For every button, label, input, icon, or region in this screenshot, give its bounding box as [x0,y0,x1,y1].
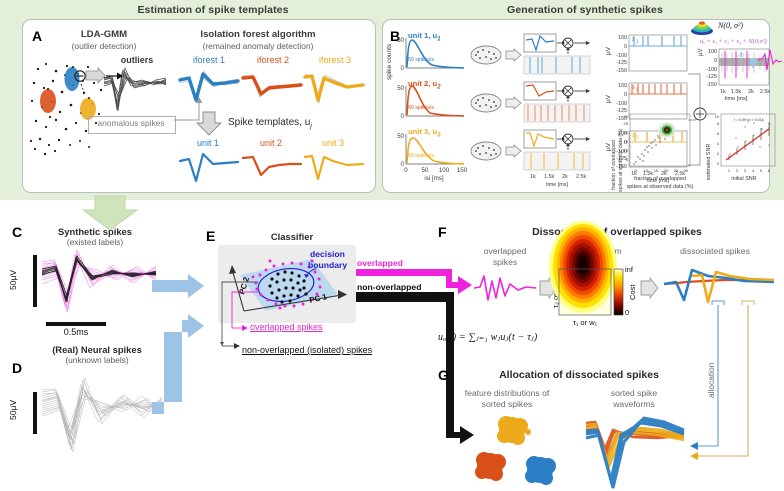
svg-text:20: 20 [624,130,629,135]
svg-text:1k: 1k [720,89,726,95]
sorted-waveforms-caption-2: waveforms [586,399,682,409]
svg-text:-125: -125 [616,60,627,66]
iforest-2-label: iforest 2 [244,55,302,65]
svg-text:6: 6 [717,131,720,136]
svg-text:100: 100 [618,83,627,89]
unit1-isi-text: unit 1, u [408,31,437,40]
svg-text:3: 3 [744,168,747,173]
svg-text:-100: -100 [616,101,627,107]
spike-generator-blob-3 [470,140,504,162]
unit1-isi-label: unit 1, u1 [408,31,441,43]
panel-d-letter: D [12,360,22,376]
svg-text:1k: 1k [530,174,536,180]
iforest-title: Isolation forest algorithm [158,29,358,40]
dissociation-equation: uₒ(t) = ∑ⱼ₌₁ wⱼuⱼ(t − τⱼ) [438,332,537,343]
svg-text:60 spikes/s: 60 spikes/s [408,153,434,159]
output-overlapped-spikes: overlapped spikes [250,322,323,332]
spike-templates-text: Spike templates, u [228,117,310,128]
svg-text:5: 5 [635,168,638,173]
pso-colorbar-min-label: 0 [625,308,629,317]
panel-c-title: Synthetic spikes [30,226,160,237]
panel-c-yscale-label: 50μV [8,270,18,290]
svg-text:0: 0 [401,65,405,72]
gaussian-noise-icon [690,18,714,36]
svg-text:0: 0 [717,161,720,166]
overlapped-flow-arrow [356,268,472,292]
svg-text:2: 2 [736,168,739,173]
panel-c-synthetic-spikes [42,248,156,318]
outliers-waveforms [104,66,166,114]
iforest-1-label: iforest 1 [180,55,238,65]
svg-text:150: 150 [457,167,468,174]
overlap-fraction-scatter: 510 1520 2530 510 1520 2530 [622,112,694,178]
svg-text:4: 4 [717,141,720,146]
banner-title-left: Estimation of spike templates [58,4,368,16]
feature-clusters-plot [470,414,574,486]
unit-2-label: unit 2 [245,138,297,148]
svg-text:0: 0 [624,92,627,98]
scatter1-xlabel-line1: fraction of overlapped [620,176,700,182]
scatter1-ylabel-line1: fraction of overlapped [611,140,617,190]
spike-templates-arrow [196,112,222,136]
panel-g-title: Allocation of dissociated spikes [456,369,702,381]
allocation-arrows [690,300,776,460]
svg-text:s: s [632,85,635,91]
svg-text:20: 20 [664,168,669,173]
pso-colorbar-max-label: inf [625,265,633,274]
panel-e-letter: E [206,228,215,244]
svg-text:5: 5 [760,168,763,173]
outliers-label: outliers [106,55,168,65]
svg-text:1: 1 [728,168,731,173]
pso-output-arrow [641,278,659,298]
svg-text:10: 10 [644,168,649,173]
svg-text:0: 0 [404,167,408,174]
panel-d-title: (Real) Neural spikes [24,344,170,355]
iforest-1-waveforms [180,67,238,109]
iforest-3-label: iforest 3 [306,55,364,65]
svg-text:time [ms]: time [ms] [546,182,568,188]
unit-1-template [180,151,238,185]
svg-text:100: 100 [439,167,450,174]
svg-text:30: 30 [684,168,689,173]
pso-colorbar-title: Cost [628,285,637,300]
svg-text:100: 100 [708,49,717,55]
svg-text:-100: -100 [616,53,627,59]
spike-templates-sub: j [310,123,312,130]
panel-c-xscale-bar [46,322,106,326]
svg-text:0: 0 [401,113,405,120]
iforest-3-waveforms [305,67,363,109]
unit3-isi-label: unit 3, u3 [408,127,441,139]
panel-g-letter: G [438,367,449,383]
branch-overlapped-label: overlapped [357,258,403,268]
panel-d-real-spikes [42,370,162,466]
svg-text:2k: 2k [748,89,754,95]
decision-boundary-label-2: boundary [308,260,347,270]
panel-e-title: Classifier [232,231,352,242]
panel-d-yscale-bar [33,392,37,434]
iforest-subtitle: (remained anomaly detection) [158,41,358,51]
noise-distribution-label: N(0, σ²) [718,21,743,30]
scatter1-xlabel-line2: spikes at observed data (%) [612,184,708,190]
convolution-block-2 [524,82,604,124]
svg-text:15: 15 [654,168,659,173]
sorted-waveforms-caption-1: sorted spike [586,388,682,398]
generator-arrow-3 [506,145,522,158]
unit1-isi-sub: 1 [437,36,441,43]
svg-text:60 spikes/s: 60 spikes/s [408,105,434,111]
svg-text:2k: 2k [562,174,568,180]
svg-text:0: 0 [624,44,627,50]
svg-text:-100: -100 [706,67,717,73]
overlapped-extract-arrow [748,58,758,68]
mixed-signal-time-xlabel: time [ms] [700,96,772,102]
svg-text:s: s [632,37,635,43]
snr-correlation-plot: r = 0.99 (p < 0.01) 12 34 56 02 46 810 [712,112,776,178]
signal-plot-s1: 1000 -100-125 -150 s 1 [610,33,688,77]
unit-1-label: unit 1 [182,138,234,148]
svg-text:2.5k: 2.5k [576,174,586,180]
generator-arrow-1 [506,49,522,62]
spike-generator-blob-1 [470,44,504,66]
convolution-block-3: 1k1.5k 2k2.5k time [ms] [524,130,604,172]
svg-text:8: 8 [717,121,720,126]
svg-text:60 spikes/s: 60 spikes/s [408,57,434,63]
panel-f-letter: F [438,224,447,240]
unit3-isi-text: unit 3, u [408,127,437,136]
svg-text:-150: -150 [706,82,717,88]
iforest-2-waveforms [243,67,301,109]
isi-ylabel: spike counts [386,70,393,80]
spike-generator-blob-2 [470,92,504,114]
svg-text:1.5k: 1.5k [544,174,554,180]
svg-text:50: 50 [422,167,429,174]
svg-text:50: 50 [397,37,404,44]
svg-text:5: 5 [626,157,629,162]
svg-text:50: 50 [397,85,404,92]
unit-2-template [243,151,301,185]
svg-text:-150: -150 [616,68,627,74]
spike-templates-label: Spike templates, uj [228,117,312,130]
svg-text:2.5k: 2.5k [760,89,770,95]
unit2-isi-text: unit 2, u [408,79,437,88]
lda-gmm-subtitle: (outlier detection) [48,41,160,51]
svg-text:r = 0.99 (p < 0.01): r = 0.99 (p < 0.01) [734,118,763,122]
overlapped-spike-trace [474,272,536,306]
pso-cost-colorbar [614,269,624,315]
svg-text:100: 100 [618,35,627,41]
decision-boundary-label-1: decision [310,249,345,259]
convolution-block-1 [524,34,604,76]
output-nonoverlapped-spikes: non-overlapped (isolated) spikes [242,345,372,355]
pso-cost-contour [559,269,611,317]
sorted-spike-waveforms [586,412,684,490]
svg-text:isi [ms]: isi [ms] [424,175,444,182]
scatter2-xlabel: initial SNR [712,176,776,182]
unit3-isi-sub: 3 [437,132,441,139]
panel-a-letter: A [32,28,42,44]
feature-distributions-caption-1: feature distributions of [443,388,571,398]
svg-text:50: 50 [397,133,404,140]
unit-3-label: unit 3 [307,138,359,148]
overlapped-spikes-caption-1: overlapped [470,246,540,256]
unit-3-template [305,151,363,185]
generator-arrow-2 [506,97,522,110]
svg-text:15: 15 [624,139,629,144]
unit2-isi-label: unit 2, u2 [408,79,441,91]
lda-gmm-title: LDA-GMM [48,29,160,40]
dissociated-spikes-caption: dissociated spikes [660,246,770,256]
allocation-label: allocation [706,363,716,398]
svg-text:-125: -125 [706,74,717,80]
panel-d-yscale-label: 50μV [8,400,18,420]
panel-c-subtitle: (existed labels) [30,237,160,247]
svg-text:25: 25 [624,121,629,126]
banner-title-right: Generation of synthetic spikes [420,4,750,16]
panel-c-yscale-bar [33,255,37,307]
output-nonoverlapped-spikes-text: non-overlapped (isolated) spikes [242,345,372,355]
pso-xaxis-label: τ₁ or w₁ [559,318,611,327]
svg-text:10: 10 [624,148,629,153]
svg-text:10: 10 [715,114,720,119]
blue-feed-arrows [152,272,218,432]
anomalous-spikes-label: anomalous spikes [88,118,174,128]
panel-f-title: Dissociation of overlapped spikes [460,226,774,238]
svg-text:4: 4 [752,168,755,173]
panel-c-letter: C [12,224,22,240]
svg-text:6: 6 [768,168,771,173]
unit2-isi-sub: 2 [437,84,441,91]
svg-text:30: 30 [624,114,629,119]
panel-d-subtitle: (unknown labels) [24,355,170,365]
svg-text:25: 25 [674,168,679,173]
panel-c-xscale-label: 0.5ms [42,327,110,337]
svg-text:0: 0 [714,58,717,64]
overlapped-spike-waveform [758,48,782,76]
svg-text:1.5k: 1.5k [731,89,741,95]
svg-text:1: 1 [636,39,639,44]
feature-distributions-caption-2: sorted spikes [443,399,571,409]
dissociation-equation-text: uₒ(t) = ∑ⱼ₌₁ wⱼuⱼ(t − τⱼ) [438,332,537,343]
overlapped-spikes-caption-2: spikes [470,257,540,267]
svg-text:2: 2 [717,151,720,156]
output-overlapped-spikes-text: overlapped spikes [250,322,323,332]
